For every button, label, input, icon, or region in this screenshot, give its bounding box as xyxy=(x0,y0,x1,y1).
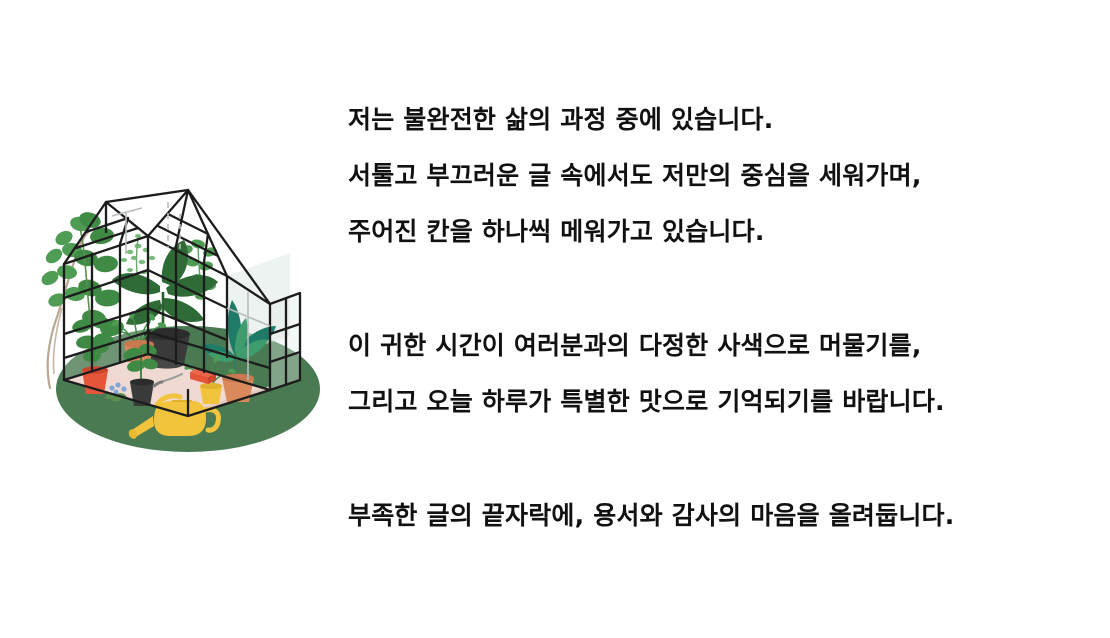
text-line: 이 귀한 시간이 여러분과의 다정한 사색으로 머물기를, xyxy=(348,318,1068,374)
greenhouse-svg xyxy=(20,158,340,460)
greenhouse-illustration xyxy=(20,158,340,460)
message-text-block: 저는 불완전한 삶의 과정 중에 있습니다. 서툴고 부끄러운 글 속에서도 저… xyxy=(348,92,1068,544)
text-line: 그리고 오늘 하루가 특별한 맛으로 기억되기를 바랍니다. xyxy=(348,374,1068,430)
text-line: 주어진 칸을 하나씩 메워가고 있습니다. xyxy=(348,204,1068,260)
text-line: 저는 불완전한 삶의 과정 중에 있습니다. xyxy=(348,92,1068,148)
text-line: 서툴고 부끄러운 글 속에서도 저만의 중심을 세워가며, xyxy=(348,148,1068,204)
paragraph-2: 이 귀한 시간이 여러분과의 다정한 사색으로 머물기를, 그리고 오늘 하루가… xyxy=(348,318,1068,430)
paragraph-1: 저는 불완전한 삶의 과정 중에 있습니다. 서툴고 부끄러운 글 속에서도 저… xyxy=(348,92,1068,260)
paragraph-3: 부족한 글의 끝자락에, 용서와 감사의 마음을 올려둡니다. xyxy=(348,488,1068,544)
text-line: 부족한 글의 끝자락에, 용서와 감사의 마음을 올려둡니다. xyxy=(348,488,1068,544)
page-canvas: 저는 불완전한 삶의 과정 중에 있습니다. 서툴고 부끄러운 글 속에서도 저… xyxy=(0,0,1110,638)
